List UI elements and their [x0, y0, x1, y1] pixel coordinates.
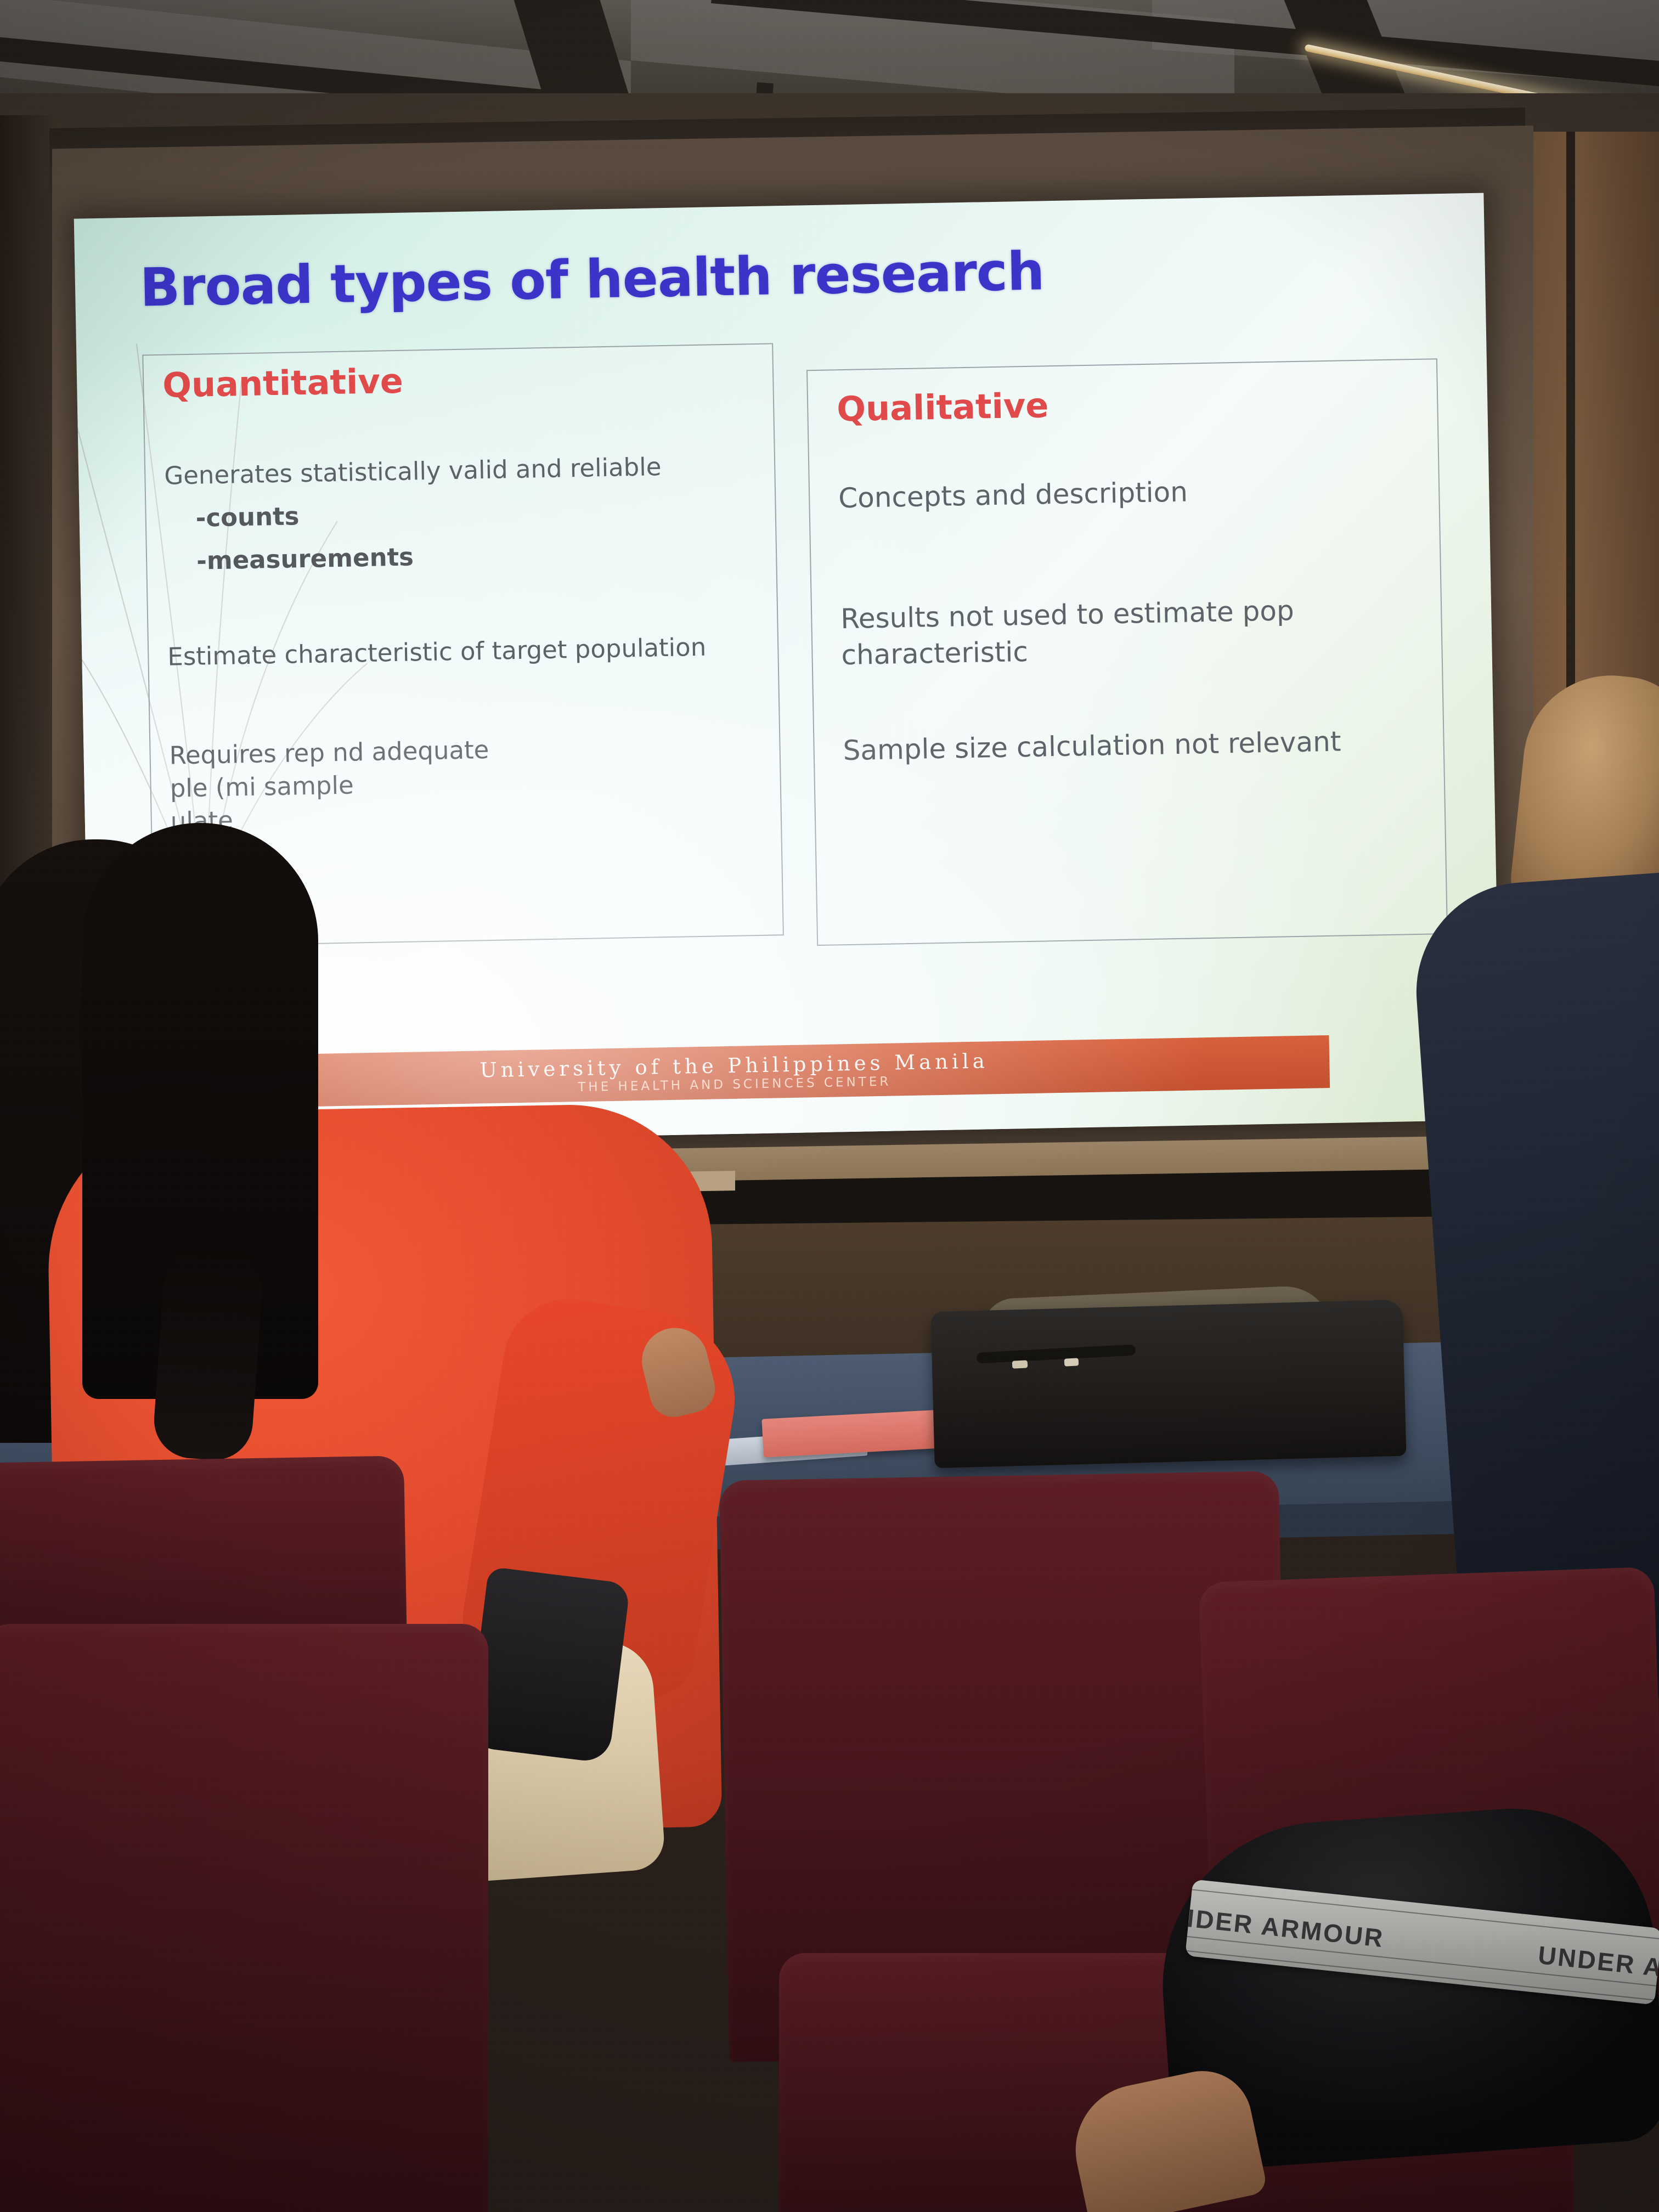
quantitative-line-counts: -counts	[195, 500, 300, 534]
qualitative-line-sample-size: Sample size calculation not relevant	[843, 722, 1403, 769]
auditorium-photo-scene: Broad types of health research Quantitat…	[0, 0, 1659, 2212]
quantitative-line-measurements: -measurements	[196, 540, 414, 577]
requires-line-1: Requires rep nd adequate	[169, 735, 489, 770]
auditorium-seat	[0, 1624, 488, 2212]
headband-brand-text: UNDER ARMOUR	[1185, 1900, 1386, 1953]
qualitative-heading: Qualitative	[837, 385, 1049, 429]
headband-brand-text: UNDER ARMOUR	[1537, 1940, 1659, 1993]
qualitative-line-results: Results not used to estimate pop charact…	[840, 591, 1401, 674]
quantitative-line-estimate: Estimate characteristic of target popula…	[167, 630, 771, 674]
laptop-briefcase	[930, 1300, 1406, 1468]
quantitative-line-requires: Requires rep nd adequate ple (mi sample …	[169, 729, 769, 838]
qualitative-column: Qualitative Concepts and description Res…	[806, 358, 1448, 946]
briefcase-clip	[1012, 1360, 1028, 1368]
qualitative-line-concepts: Concepts and description	[838, 470, 1398, 517]
handbag	[467, 1566, 630, 1763]
requires-line-2: ple (mi sample	[170, 770, 354, 803]
front-person-hair	[151, 1237, 265, 1463]
briefcase-clip	[1064, 1358, 1079, 1366]
quantitative-line-generates: Generates statistically valid and reliab…	[164, 449, 757, 493]
quantitative-heading: Quantitative	[162, 361, 404, 405]
